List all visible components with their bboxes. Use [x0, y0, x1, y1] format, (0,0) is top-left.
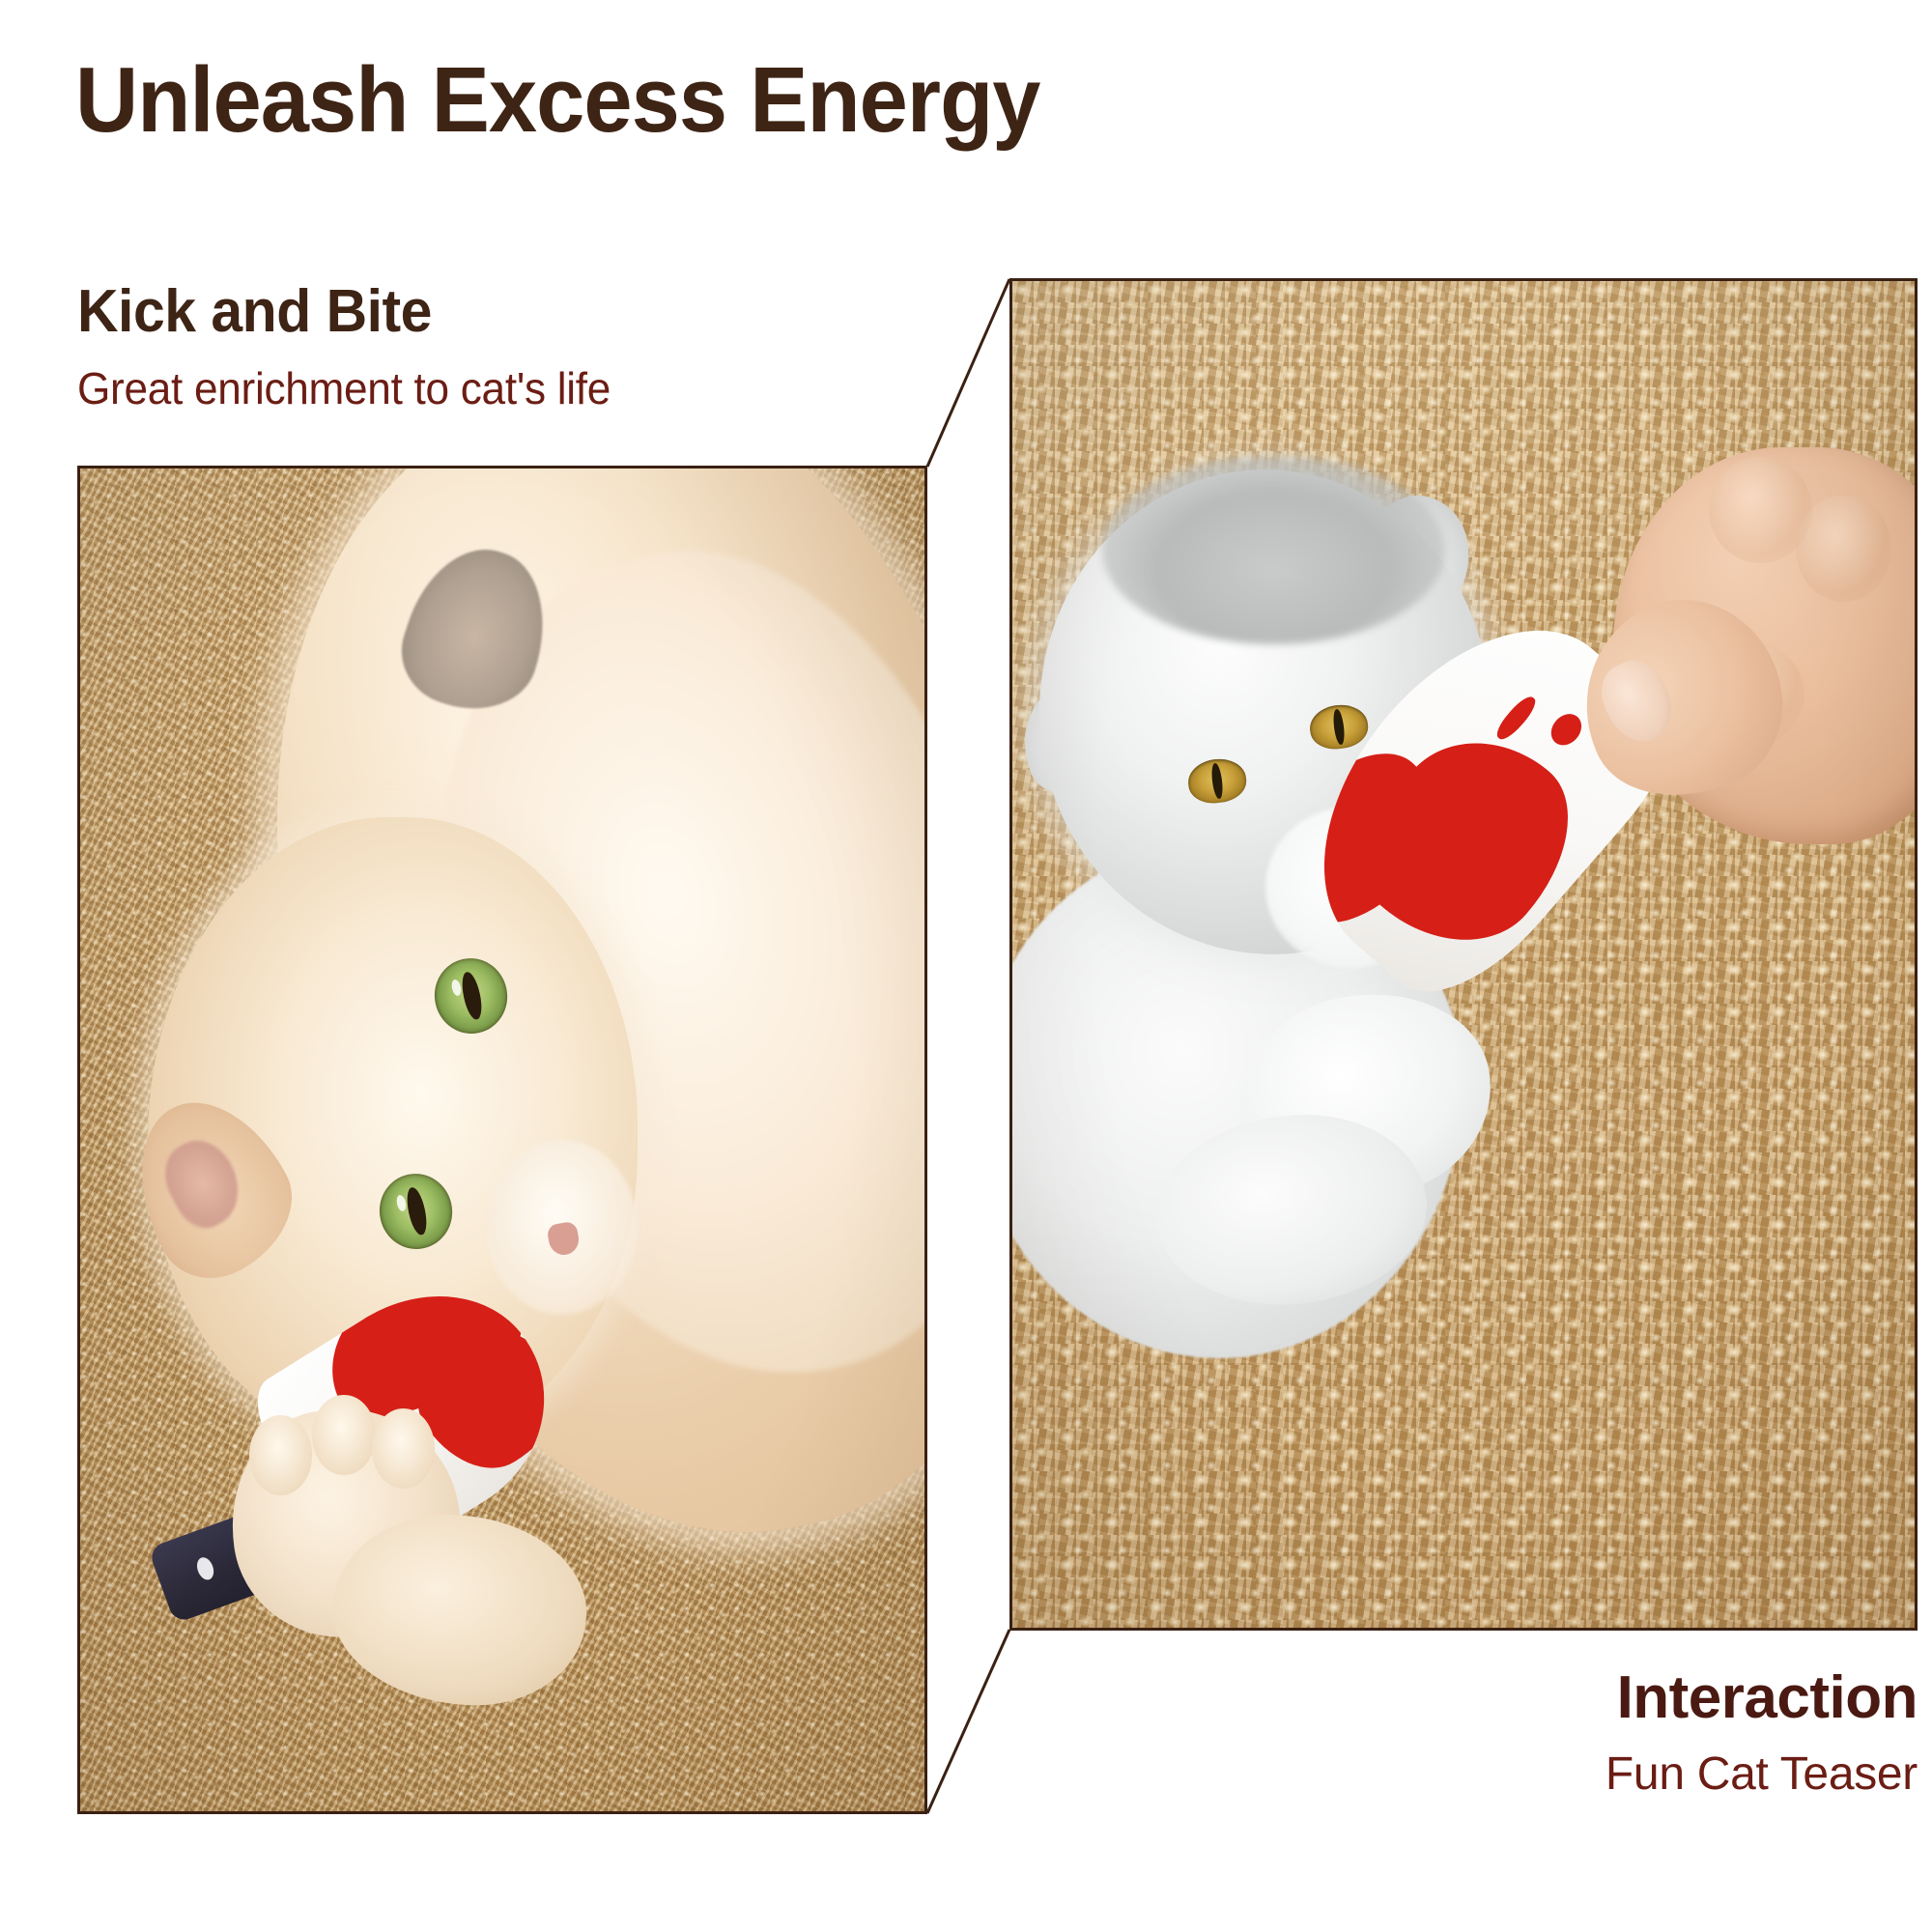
left-caption-subtitle: Great enrichment to cat's life	[77, 362, 894, 415]
cat-toe-3-left	[372, 1408, 436, 1489]
cat-head-shading-right	[1102, 456, 1445, 644]
human-hand	[1590, 389, 1918, 874]
hand-knuckle-2	[1796, 496, 1891, 602]
left-panel-caption: Kick and Bite Great enrichment to cat's …	[77, 278, 927, 416]
left-caption-title: Kick and Bite	[77, 278, 885, 345]
connector-line-top	[927, 279, 1009, 467]
left-product-photo[interactable]	[77, 466, 927, 1814]
right-caption-subtitle: Fun Cat Teaser	[1048, 1747, 1918, 1803]
cat-toe-1-left	[249, 1415, 313, 1495]
cat-toe-2-left	[312, 1395, 376, 1475]
right-panel-caption: Interaction Fun Cat Teaser	[1048, 1664, 1918, 1803]
blood-splatter-4-right	[1492, 693, 1541, 744]
page-title: Unleash Excess Energy	[75, 50, 1040, 151]
blood-splatter-3-right	[1545, 707, 1588, 751]
right-caption-title: Interaction	[1048, 1664, 1918, 1731]
right-product-photo[interactable]	[1009, 278, 1918, 1631]
connector-line-bottom	[927, 1630, 1009, 1813]
